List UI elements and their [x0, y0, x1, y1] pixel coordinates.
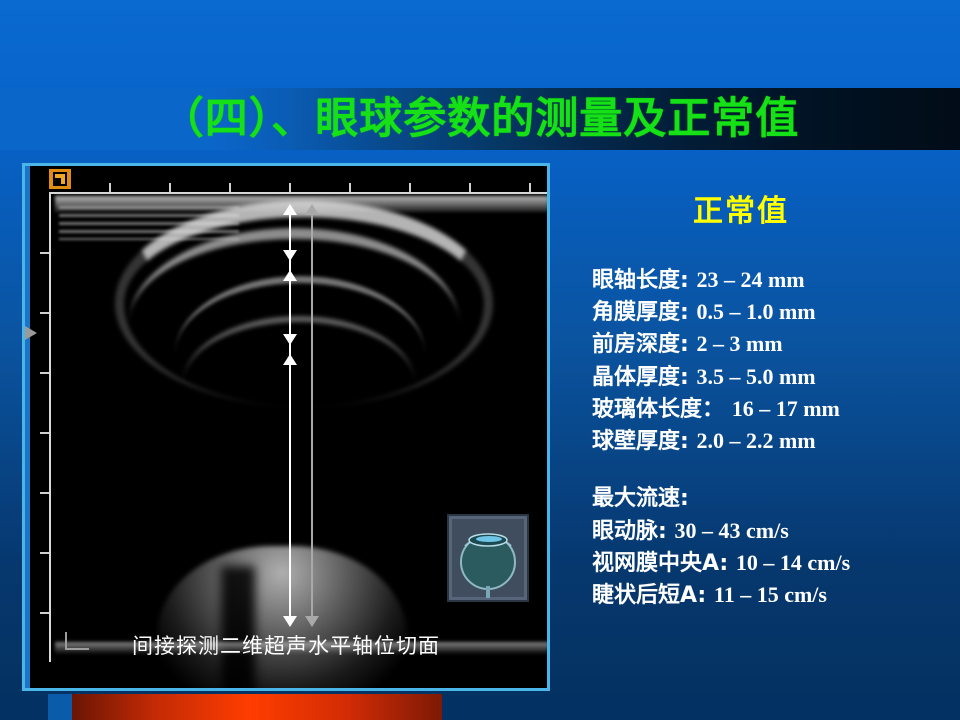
row-value: 30 – 43 cm/s: [674, 518, 788, 543]
row-label: 前房深度:: [592, 332, 689, 357]
optic-nerve-shadow: [221, 566, 255, 688]
flow-heading-label: 最大流速:: [592, 486, 689, 511]
row-value: 10 – 14 cm/s: [736, 550, 850, 575]
axial-length-arrow-top: [305, 204, 319, 215]
row-label: 玻璃体长度：: [592, 397, 724, 422]
row-label: 睫状后短A:: [592, 583, 706, 608]
lens-thickness-arrow: [283, 354, 297, 365]
row-value: 23 – 24 mm: [696, 267, 804, 292]
value-row: 晶体厚度: 3.5 – 5.0 mm: [578, 361, 950, 393]
ruler-tick: [40, 252, 49, 254]
vitreous-arrow-bottom: [283, 616, 297, 627]
slide-canvas: （四）、眼球参数的测量及正常值: [0, 0, 960, 720]
row-label: 眼动脉:: [592, 519, 667, 544]
flow-row: 眼动脉: 30 – 43 cm/s: [578, 515, 950, 547]
ruler-tick: [349, 183, 351, 192]
row-value: 11 – 15 cm/s: [714, 582, 827, 607]
ultrasound-image: 间接探测二维超声水平轴位切面: [25, 166, 547, 688]
scanner-logo-icon: [48, 168, 72, 190]
page-title: （四）、眼球参数的测量及正常值: [0, 80, 960, 150]
anterior-chamber-arrow-bottom: [283, 334, 297, 345]
ruler-tick: [40, 552, 49, 554]
value-row: 眼轴长度: 23 – 24 mm: [578, 264, 950, 296]
scan-left-strip: [25, 166, 30, 688]
row-label: 眼轴长度:: [592, 268, 689, 293]
section-spacer: [578, 457, 950, 483]
ruler-tick: [289, 183, 291, 192]
cornea-thickness-arrow: [283, 250, 297, 261]
ruler-tick: [469, 183, 471, 192]
ruler-tick: [229, 183, 231, 192]
value-row: 前房深度: 2 – 3 mm: [578, 328, 950, 360]
value-row: 球壁厚度: 2.0 – 2.2 mm: [578, 425, 950, 457]
axial-length-caliper: [311, 212, 313, 618]
vitreous-arrow-top: [283, 204, 297, 215]
value-row: 角膜厚度: 0.5 – 1.0 mm: [578, 296, 950, 328]
eye-schematic-icon: [447, 514, 529, 602]
lens-posterior-arc: [183, 316, 415, 452]
ruler-tick: [40, 612, 49, 614]
horizontal-ruler: [49, 192, 547, 194]
ruler-tick: [40, 372, 49, 374]
axial-length-arrow-bottom: [305, 616, 319, 627]
row-label: 角膜厚度:: [592, 300, 689, 325]
row-label: 晶体厚度:: [592, 365, 689, 390]
anterior-chamber-arrow-top: [283, 270, 297, 281]
row-value: 2.0 – 2.2 mm: [696, 428, 815, 453]
flow-row: 睫状后短A: 11 – 15 cm/s: [578, 579, 950, 611]
row-value: 0.5 – 1.0 mm: [696, 299, 815, 324]
bottom-gradient-bar: [72, 694, 442, 720]
vertical-ruler: [49, 192, 51, 662]
ruler-tick: [109, 183, 111, 192]
row-label: 球壁厚度:: [592, 429, 689, 454]
posterior-wall-echo: [157, 546, 407, 688]
ruler-tick: [40, 432, 49, 434]
ruler-tick: [409, 183, 411, 192]
value-row: 玻璃体长度： 16 – 17 mm: [578, 393, 950, 425]
caret-right-icon: [25, 326, 37, 340]
ruler-tick: [40, 492, 49, 494]
normal-values-panel: 正常值 眼轴长度: 23 – 24 mm 角膜厚度: 0.5 – 1.0 mm …: [578, 186, 950, 611]
flow-section-heading: 最大流速:: [578, 483, 950, 514]
ultrasound-caption: 间接探测二维超声水平轴位切面: [25, 630, 547, 660]
row-value: 16 – 17 mm: [732, 396, 840, 421]
ultrasound-image-frame: 间接探测二维超声水平轴位切面: [22, 163, 550, 691]
row-value: 3.5 – 5.0 mm: [696, 364, 815, 389]
row-label: 视网膜中央A:: [592, 551, 728, 576]
ruler-tick: [529, 183, 531, 192]
row-value: 2 – 3 mm: [696, 331, 782, 356]
ruler-tick: [169, 183, 171, 192]
flow-row: 视网膜中央A: 10 – 14 cm/s: [578, 547, 950, 579]
panel-heading: 正常值: [578, 186, 950, 230]
ruler-tick: [40, 312, 49, 314]
